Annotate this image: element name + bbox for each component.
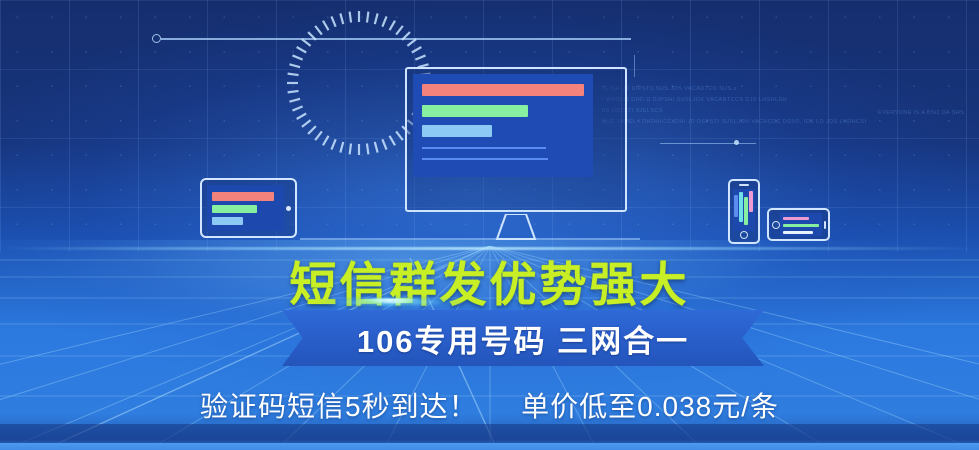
monitor-stand <box>488 214 544 240</box>
desktop-monitor <box>405 67 627 212</box>
decor-text-line: SUC TAMEL I DHDHLCCJDHI JD DSPSTI SUSLJO… <box>602 117 974 128</box>
monitor-frame <box>405 67 627 212</box>
monitor-bar-2 <box>422 105 528 117</box>
phone-v-bar-3 <box>744 197 748 225</box>
tablet-home-button-icon <box>286 206 291 211</box>
tablet-bar-3 <box>212 217 243 225</box>
node-dot-icon <box>152 34 161 43</box>
monitor-screen <box>413 74 593 177</box>
decor-slider-track <box>660 143 756 144</box>
phone-speaker-icon <box>739 184 749 186</box>
phone-h-bar-2 <box>783 224 819 227</box>
phone-landscape-frame <box>767 208 830 241</box>
subtitle-left: 验证码短信5秒到达！ <box>200 391 478 422</box>
bottom-edge-strip <box>0 443 979 450</box>
tablet-device <box>200 178 297 238</box>
node-rule-secondary <box>300 238 640 240</box>
decor-text-line: IS ISH JD DIPSTS SUS.JOS VACADTCD SUS.s <box>602 84 974 95</box>
phone-landscape-screen <box>780 213 822 236</box>
decor-vertical-line <box>634 55 635 77</box>
sms-marketing-banner: IS ISH JD DIPSTS SUS.JOS VACADTCD SUS.s … <box>0 0 979 450</box>
subtitle-right: 单价低至0.038元/条 <box>521 391 779 422</box>
page-title: 短信群发优势强大 <box>0 246 979 315</box>
decor-text-right: EVERYONE IS A BSO DA SHS <box>878 110 979 116</box>
phone-h-bar-3 <box>783 231 813 234</box>
ribbon-label: 106专用号码 三网合一 <box>282 310 764 366</box>
decor-slider-knob <box>734 140 739 145</box>
phone-portrait <box>728 179 760 244</box>
monitor-bar-3 <box>422 125 492 137</box>
decor-slider <box>660 140 756 146</box>
phone-landscape <box>767 208 830 241</box>
phone-home-button-icon <box>740 231 748 239</box>
monitor-bar-1 <box>422 84 584 96</box>
phone-landscape-speaker-icon <box>824 221 826 229</box>
tablet-bar-2 <box>212 205 257 213</box>
phone-v-bar-4 <box>749 191 753 212</box>
phone-v-bar-2 <box>739 192 743 222</box>
phone-portrait-screen <box>733 189 755 231</box>
phone-landscape-home-button-icon <box>772 221 780 229</box>
ribbon-banner: 106专用号码 三网合一 <box>282 310 764 366</box>
monitor-line-2 <box>422 158 548 160</box>
tablet-bar-1 <box>212 192 274 201</box>
decor-text-line: I WHSLIS DHD D DJPSHI SUSLJOX VACANTCCS … <box>602 95 974 106</box>
subtitle-row: 验证码短信5秒到达！ 单价低至0.038元/条 <box>0 385 979 425</box>
decor-text-block: IS ISH JD DIPSTS SUS.JOS VACADTCD SUS.s … <box>602 84 974 128</box>
phone-v-bar-1 <box>734 195 738 217</box>
phone-h-bar-1 <box>783 217 809 220</box>
tablet-frame <box>200 178 297 238</box>
phone-portrait-frame <box>728 179 760 244</box>
tablet-screen <box>207 185 284 231</box>
monitor-line-1 <box>422 147 546 149</box>
